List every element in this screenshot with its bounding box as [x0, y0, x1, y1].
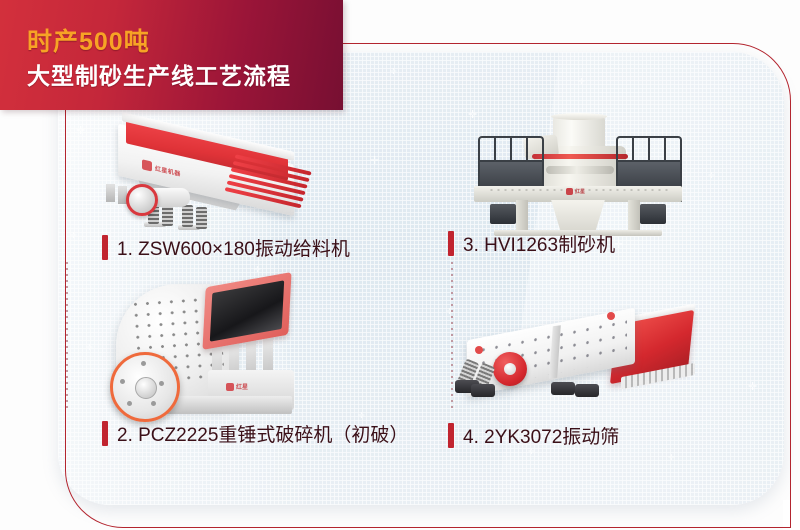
brand-mark: 红星	[226, 382, 248, 391]
banner-title-line1: 时产500吨	[27, 22, 150, 58]
frame-corner-mask	[783, 500, 800, 530]
platform-railing-left	[478, 136, 544, 164]
equipment-label-4: 4. 2YK3072振动筛	[448, 422, 619, 449]
sparkle-icon: ✛	[528, 448, 535, 456]
sparkle-icon: ✛	[668, 454, 675, 462]
vibrating-feeder-icon: 红星机器	[100, 122, 340, 232]
vibrating-screen-icon	[455, 298, 705, 408]
platform-railing-right	[616, 136, 682, 164]
equipment-label-text: 2. PCZ2225重锤式破碎机（初破）	[117, 420, 408, 447]
sparkle-icon: ✛	[254, 266, 261, 274]
sparkle-icon: ✛	[614, 240, 623, 251]
sparkle-icon: ✛	[76, 126, 85, 137]
sparkle-icon: ✛	[370, 156, 379, 167]
sparkle-icon: ✛	[86, 344, 93, 352]
equipment-label-2: 2. PCZ2225重锤式破碎机（初破）	[102, 420, 408, 447]
hammer-crusher-icon: 红星	[108, 278, 328, 418]
equipment-label-text: 3. HVI1263制砂机	[463, 230, 615, 257]
equipment-label-text: 1. ZSW600×180振动给料机	[117, 234, 350, 261]
accent-bar	[102, 235, 108, 260]
sparkle-icon: ✛	[748, 382, 757, 393]
accent-bar	[102, 421, 108, 446]
title-banner: 时产500吨 大型制砂生产线工艺流程	[0, 0, 343, 110]
accent-bar	[448, 423, 454, 448]
brand-mark: 红星	[566, 188, 585, 195]
equipment-label-3: 3. HVI1263制砂机	[448, 230, 615, 257]
banner-title-line2: 大型制砂生产线工艺流程	[27, 57, 291, 91]
divider-dotted-middle	[451, 262, 453, 412]
infographic-stage: ✛ ✛ ✛ ✛ ✛ ✛ ✛ ✛ ✛ ✛ ✛ ✛ ✛ ✛ ✛ ✛ ✛ ✛	[0, 0, 800, 530]
sparkle-icon: ✛	[70, 232, 77, 240]
sparkle-icon: ✛	[708, 172, 715, 180]
sparkle-icon: ✛	[390, 68, 397, 76]
divider-dotted-left	[66, 262, 68, 412]
sparkle-icon: ✛	[578, 78, 585, 86]
accent-bar	[448, 231, 454, 256]
equipment-label-text: 4. 2YK3072振动筛	[463, 422, 619, 449]
vsi-sand-maker-icon: 红星	[468, 116, 688, 236]
sparkle-icon: ✛	[358, 412, 365, 420]
equipment-label-1: 1. ZSW600×180振动给料机	[102, 234, 350, 261]
